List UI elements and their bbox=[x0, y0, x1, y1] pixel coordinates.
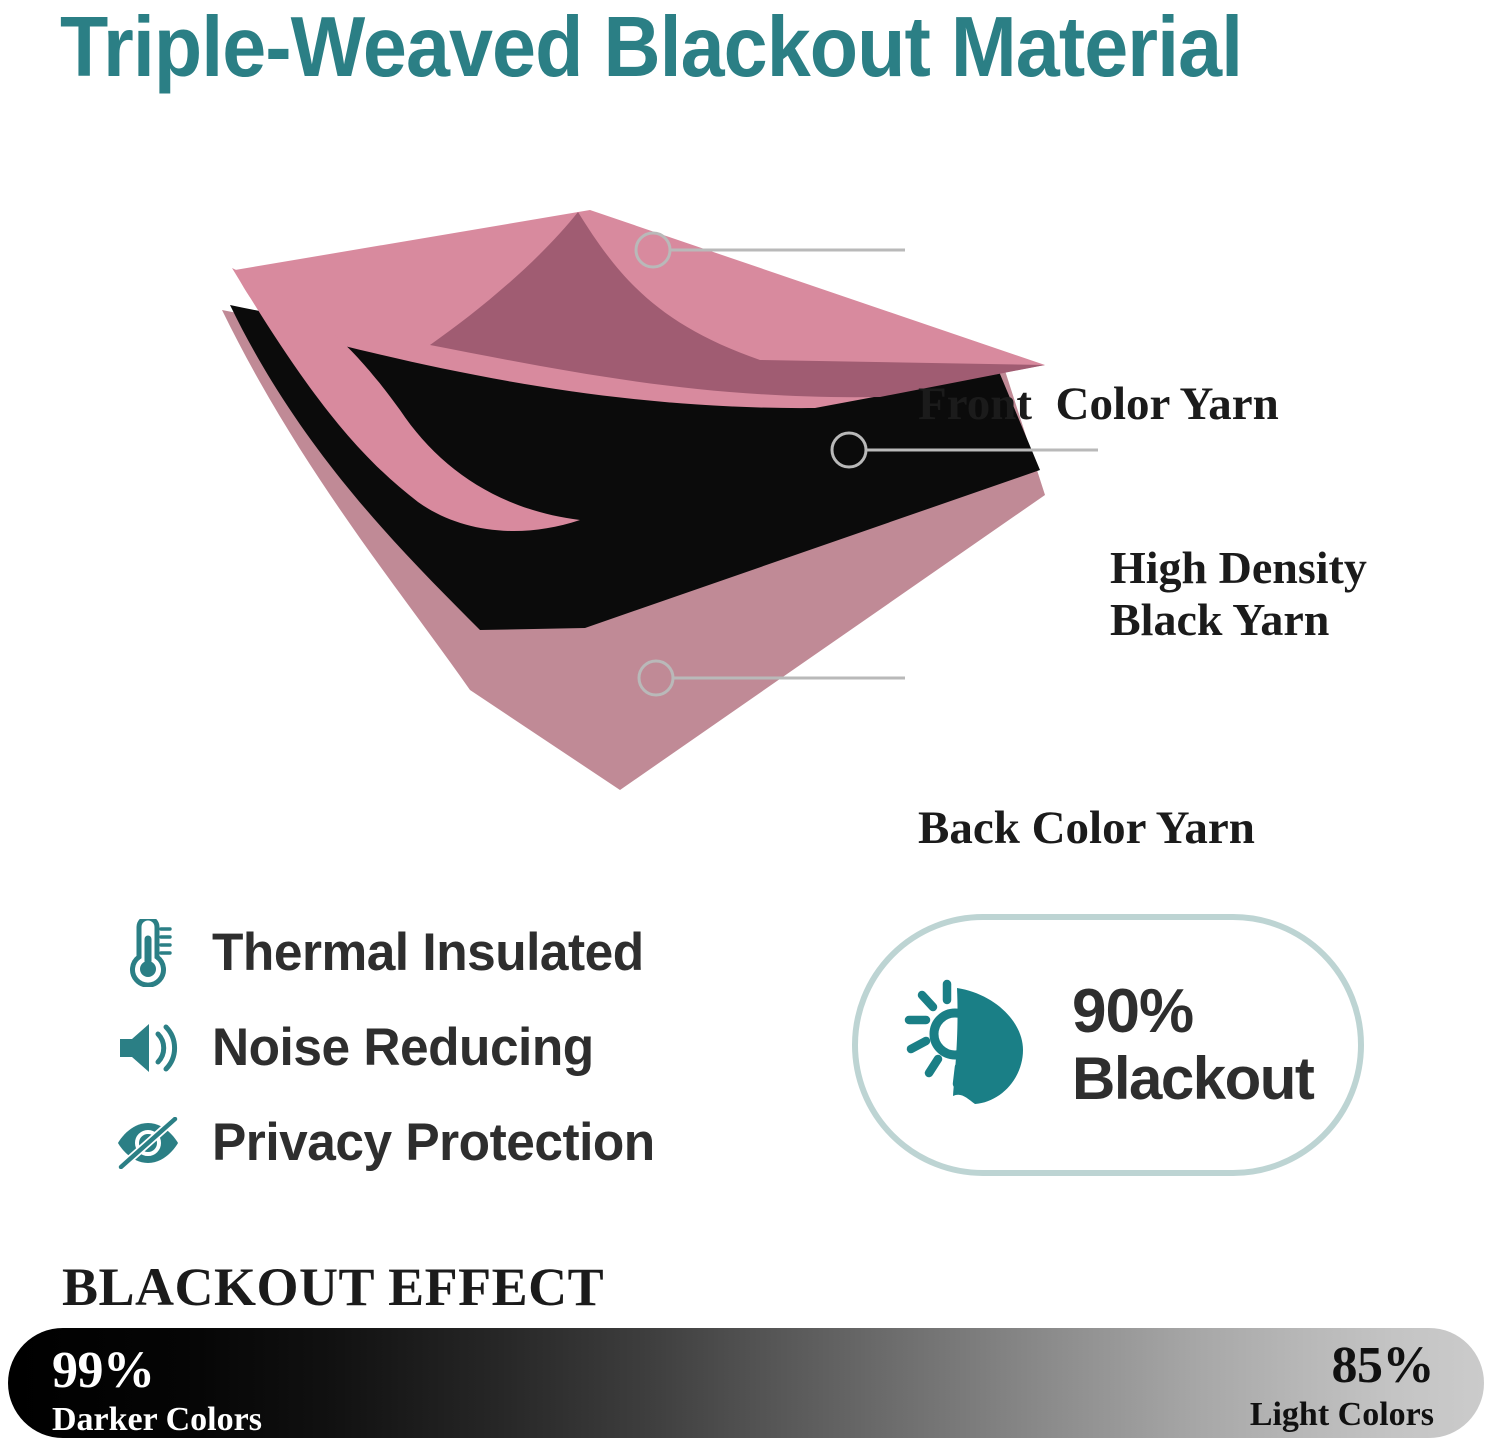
feature-label: Noise Reducing bbox=[212, 1017, 594, 1078]
bar-sublabel: Darker Colors bbox=[52, 1403, 262, 1437]
feature-list: Thermal Insulated Noise Reducing Privacy… bbox=[112, 905, 812, 1190]
bar-percent: 99% bbox=[52, 1345, 262, 1397]
label-high-density-black-yarn: High Density Black Yarn bbox=[1110, 542, 1367, 645]
bar-stat-darker-colors: 99% Darker Colors bbox=[52, 1345, 262, 1437]
thermometer-icon bbox=[112, 917, 184, 989]
badge-word: Blackout bbox=[1072, 1049, 1313, 1109]
badge-text-group: 90% Blackout bbox=[1072, 981, 1313, 1109]
sun-blocked-icon bbox=[894, 965, 1054, 1125]
bar-sublabel: Light Colors bbox=[1250, 1398, 1434, 1432]
bar-percent: 85% bbox=[1250, 1340, 1434, 1392]
feature-label: Thermal Insulated bbox=[212, 922, 644, 983]
blackout-effect-title: BLACKOUT EFFECT bbox=[62, 1256, 604, 1318]
label-back-color-yarn: Back Color Yarn bbox=[918, 802, 1255, 855]
badge-percent: 90% bbox=[1072, 981, 1313, 1043]
speaker-icon bbox=[112, 1012, 184, 1084]
feature-noise-reducing: Noise Reducing bbox=[112, 1000, 812, 1095]
bar-stat-light-colors: 85% Light Colors bbox=[1250, 1340, 1434, 1432]
fabric-layers-diagram: Front Color Yarn High Density Black Yarn… bbox=[0, 150, 1492, 850]
feature-thermal-insulated: Thermal Insulated bbox=[112, 905, 812, 1000]
label-front-color-yarn: Front Color Yarn bbox=[918, 378, 1279, 431]
page-title: Triple-Weaved Blackout Material bbox=[60, 2, 1362, 94]
eye-slash-icon bbox=[112, 1107, 184, 1179]
feature-label: Privacy Protection bbox=[212, 1112, 655, 1173]
feature-privacy-protection: Privacy Protection bbox=[112, 1095, 812, 1190]
blackout-badge: 90% Blackout bbox=[852, 914, 1364, 1176]
